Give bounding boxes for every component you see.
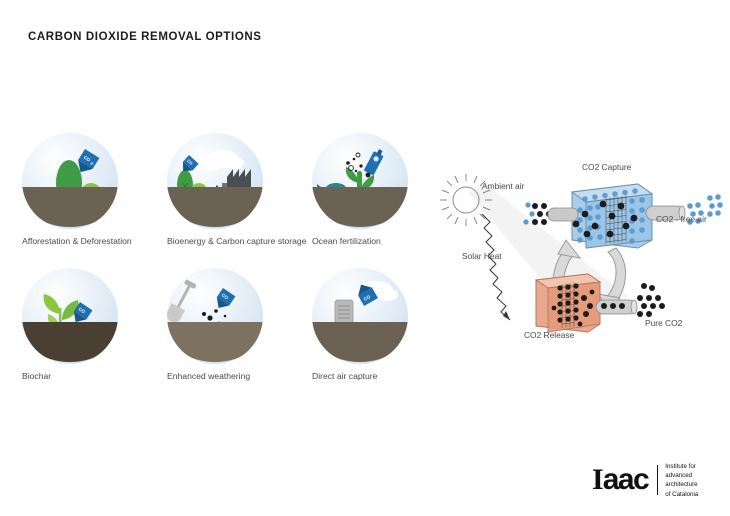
label-co2-capture: CO2 Capture	[582, 162, 631, 172]
option-direct-air-capture[interactable]: CO CO Direct air capture	[312, 268, 452, 383]
label-solar-heat: Solar Heat	[462, 251, 502, 261]
option-biochar[interactable]: CO Biochar	[22, 268, 162, 383]
label-ambient-air: Ambient air	[482, 181, 524, 191]
iaac-logo: Iaac Institute for advanced architecture…	[592, 462, 698, 499]
logo-tagline-line: architecture	[665, 480, 698, 489]
logo-tagline: Institute for advanced architecture of C…	[665, 462, 698, 499]
soil-base	[22, 322, 118, 364]
soil-base	[167, 322, 263, 364]
soil-base	[312, 187, 408, 229]
collector-cloud-co2-icon: CO CO	[312, 268, 408, 364]
pure-co2-dots	[637, 283, 665, 317]
page-title: CARBON DIOXIDE REMOVAL OPTIONS	[28, 31, 262, 43]
option-enhanced-weathering[interactable]: CO Enhanced weathering	[167, 268, 307, 383]
fish-seaweed-bottle-icon	[312, 133, 408, 229]
logo-mark-i: I	[592, 463, 603, 496]
option-afforestation[interactable]: CO 2 Afforestation & Deforestation	[22, 133, 162, 248]
label-pure-co2: Pure CO2	[645, 318, 682, 328]
option-label: Enhanced weathering	[167, 371, 307, 383]
trees-co2-icon: CO 2	[22, 133, 118, 229]
option-label: Afforestation & Deforestation	[22, 236, 162, 248]
option-label: Ocean fertilization	[312, 236, 452, 248]
factory-trees-co2-icon: CO CO CO	[167, 133, 263, 229]
logo-mark-aac: aac	[603, 463, 649, 496]
logo-divider	[657, 465, 658, 495]
option-beccs[interactable]: CO CO CO Bioenergy & Carbon capture stor…	[167, 133, 307, 248]
direct-air-capture-process-diagram: Ambient air CO2 Capture CO2 - free air S…	[440, 148, 730, 353]
option-ocean-fertilization[interactable]: Ocean fertilization	[312, 133, 452, 248]
logo-wordmark: Iaac	[592, 465, 648, 495]
soil-base	[167, 187, 263, 229]
label-co2-release: CO2 Release	[524, 330, 574, 340]
option-label: Biochar	[22, 371, 162, 383]
label-co2-free-air: CO2 - free air	[656, 214, 707, 224]
option-label: Direct air capture	[312, 371, 452, 383]
shovel-rocks-co2-icon: CO	[167, 268, 263, 364]
logo-tagline-line: of Catalonia	[665, 490, 698, 499]
logo-tagline-line: Institute for	[665, 462, 698, 471]
soil-base	[312, 322, 408, 364]
soil-base	[22, 187, 118, 229]
logo-tagline-line: advanced	[665, 471, 698, 480]
option-label: Bioenergy & Carbon capture storage	[167, 236, 307, 248]
seedling-co2-icon: CO	[22, 268, 118, 364]
